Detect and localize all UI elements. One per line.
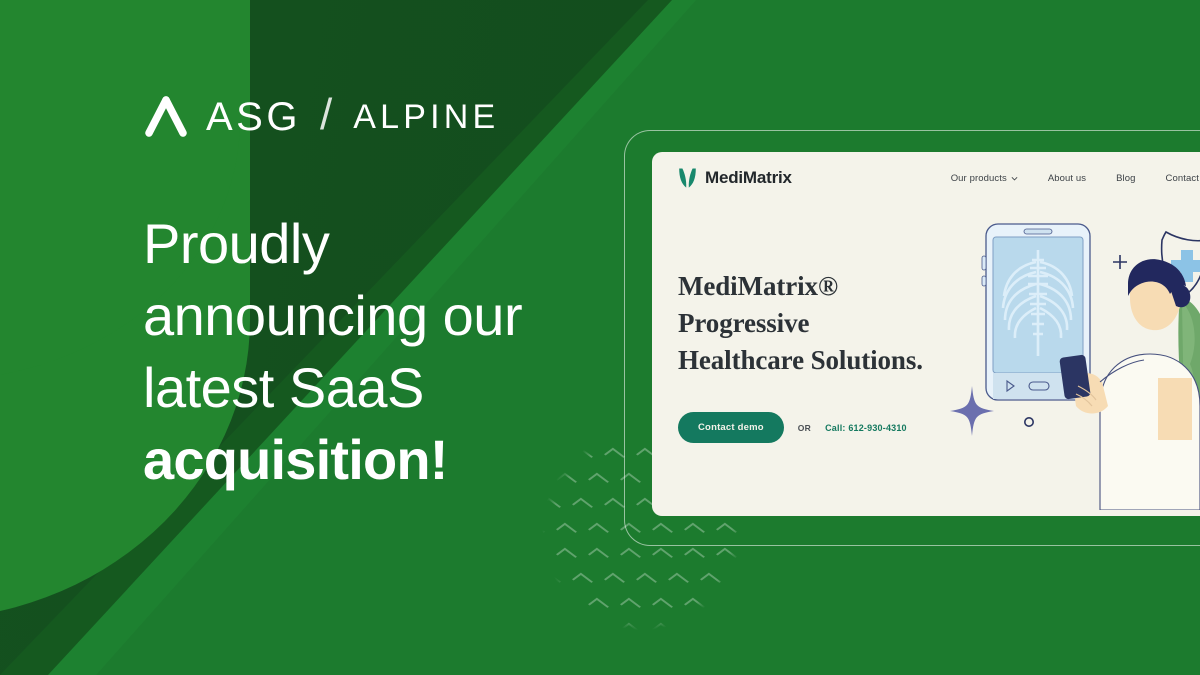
chevron-row (527, 618, 757, 643)
chevron-glyph (524, 523, 545, 539)
asg-chevron-mark (143, 96, 189, 138)
chevron-glyph (540, 498, 561, 514)
chevron-glyph (540, 573, 561, 589)
nav-link-label: Our products (951, 173, 1007, 184)
site-nav-links: Our productsAbout usBlogContact (951, 173, 1200, 184)
chevron-glyph (572, 498, 593, 514)
asg-alpine-logo: ASG / ALPINE (143, 92, 499, 142)
medimatrix-leaf-mark (678, 167, 697, 189)
nav-link-blog[interactable]: Blog (1116, 173, 1135, 184)
site-logo-text: MediMatrix (705, 168, 792, 188)
announcement-headline: Proudly announcing our latest SaaS acqui… (143, 208, 613, 496)
site-navbar: MediMatrix Our productsAbout usBlogConta… (652, 152, 1200, 204)
chevron-glyph (668, 573, 689, 589)
headline-line-2: announcing our (143, 284, 522, 347)
medimatrix-website-mockup: MediMatrix Our productsAbout usBlogConta… (652, 152, 1200, 516)
chevron-glyph (524, 548, 545, 564)
chevron-glyph (588, 623, 609, 639)
chevron-glyph (604, 498, 625, 514)
chevron-glyph (716, 598, 737, 614)
cta-or-label: OR (798, 423, 811, 433)
site-hero-title: MediMatrix® Progressive Healthcare Solut… (678, 268, 923, 379)
chevron-row (527, 593, 757, 618)
hero-title-line-2: Progressive (678, 305, 923, 342)
logo-separator: / (320, 90, 332, 140)
chevron-glyph (556, 523, 577, 539)
headline-line-1: Proudly (143, 212, 329, 275)
chevron-glyph (588, 598, 609, 614)
headline-line-4-bold: acquisition! (143, 424, 613, 496)
headline-line-3: latest SaaS (143, 356, 424, 419)
nav-link-contact[interactable]: Contact (1166, 173, 1200, 184)
chevron-glyph (716, 548, 737, 564)
chevron-down-icon (1011, 175, 1018, 182)
chevron-glyph (604, 573, 625, 589)
plus-accent-icon (1113, 255, 1127, 269)
logo-asg-text: ASG (206, 95, 301, 140)
chevron-glyph (700, 573, 721, 589)
chevron-glyph (588, 523, 609, 539)
chevron-glyph (556, 598, 577, 614)
poster-canvas: ASG / ALPINE Proudly announcing our late… (0, 0, 1200, 675)
chevron-glyph (684, 548, 705, 564)
phone-link[interactable]: Call: 612-930-4310 (825, 423, 907, 433)
chevron-glyph (636, 573, 657, 589)
nav-link-our-products[interactable]: Our products (951, 173, 1018, 184)
chevron-glyph (652, 598, 673, 614)
chevron-row (527, 543, 757, 568)
healthcare-illustration (944, 210, 1200, 510)
chevron-glyph (620, 548, 641, 564)
site-logo[interactable]: MediMatrix (678, 167, 792, 189)
chevron-glyph (716, 623, 737, 639)
nav-link-about-us[interactable]: About us (1048, 173, 1086, 184)
chevron-glyph (572, 573, 593, 589)
chevron-glyph (620, 623, 641, 639)
chevron-glyph (620, 598, 641, 614)
chevron-glyph (652, 623, 673, 639)
nav-link-label: Contact (1166, 173, 1199, 184)
circle-accent-icon (1025, 418, 1033, 426)
chevron-glyph (652, 548, 673, 564)
hero-title-line-1: MediMatrix® (678, 268, 923, 305)
nav-link-label: About us (1048, 173, 1086, 184)
hero-title-line-3: Healthcare Solutions. (678, 342, 923, 379)
contact-demo-button[interactable]: Contact demo (678, 412, 784, 443)
chevron-glyph (732, 573, 753, 589)
chevron-glyph (588, 548, 609, 564)
chevron-row (527, 568, 757, 593)
chevron-glyph (684, 623, 705, 639)
chevron-glyph (684, 598, 705, 614)
site-cta-row: Contact demo OR Call: 612-930-4310 (678, 412, 907, 443)
chevron-glyph (556, 548, 577, 564)
nav-link-label: Blog (1116, 173, 1135, 184)
logo-alpine-text: ALPINE (353, 98, 499, 137)
